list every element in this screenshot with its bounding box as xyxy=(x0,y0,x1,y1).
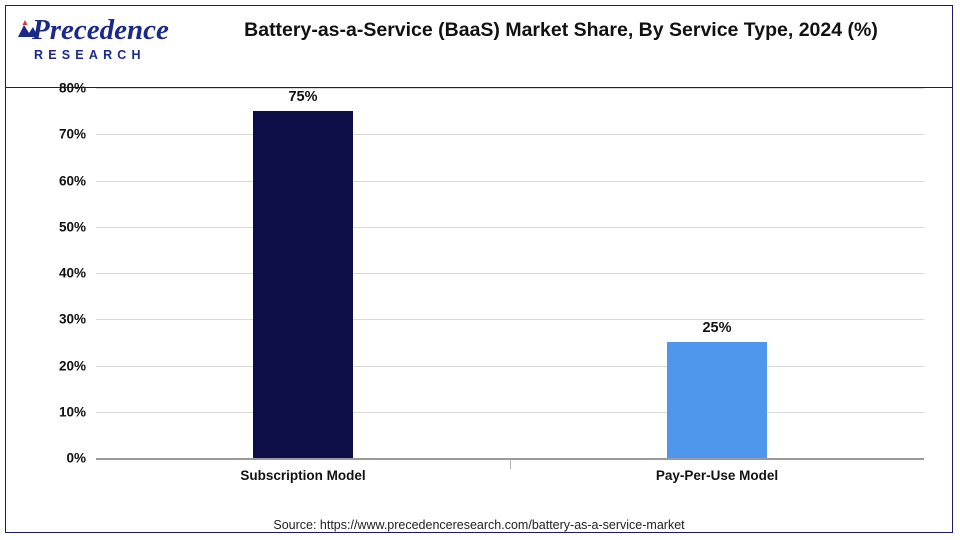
y-axis-tick: 70% xyxy=(59,127,86,142)
bar-value-label: 75% xyxy=(203,89,403,105)
y-axis-tick: 80% xyxy=(59,81,86,96)
chart-header: Precedence RESEARCH Battery-as-a-Service… xyxy=(6,6,952,88)
y-axis-tick: 20% xyxy=(59,358,86,373)
y-axis-tick: 40% xyxy=(59,266,86,281)
y-axis-tick: 10% xyxy=(59,404,86,419)
x-axis-category-labels: Subscription ModelPay-Per-Use Model xyxy=(96,464,924,494)
chart-card: Precedence RESEARCH Battery-as-a-Service… xyxy=(5,5,953,533)
logo-subtext: RESEARCH xyxy=(14,48,179,62)
bar-rect xyxy=(667,342,767,458)
category-label: Subscription Model xyxy=(153,468,453,483)
logo-mark-icon xyxy=(16,17,40,41)
y-axis-tick: 60% xyxy=(59,173,86,188)
source-note: Source: https://www.precedenceresearch.c… xyxy=(6,518,952,532)
bar-value-label: 25% xyxy=(617,320,817,336)
y-axis-tick: 30% xyxy=(59,312,86,327)
page-title: Battery-as-a-Service (BaaS) Market Share… xyxy=(181,16,941,45)
y-axis-tick: 0% xyxy=(66,451,86,466)
precedence-research-logo: Precedence RESEARCH xyxy=(14,14,179,76)
bar: 25% xyxy=(667,88,767,458)
bar-rect xyxy=(253,111,353,458)
chart-plot-area: 0%10%20%30%40%50%60%70%80% 75%25% Subscr… xyxy=(6,88,952,533)
bar: 75% xyxy=(253,88,353,458)
bars-layer: 75%25% xyxy=(96,88,924,458)
category-label: Pay-Per-Use Model xyxy=(567,468,867,483)
y-axis-tick: 50% xyxy=(59,219,86,234)
y-axis-tick-labels: 0%10%20%30%40%50%60%70%80% xyxy=(6,88,96,468)
